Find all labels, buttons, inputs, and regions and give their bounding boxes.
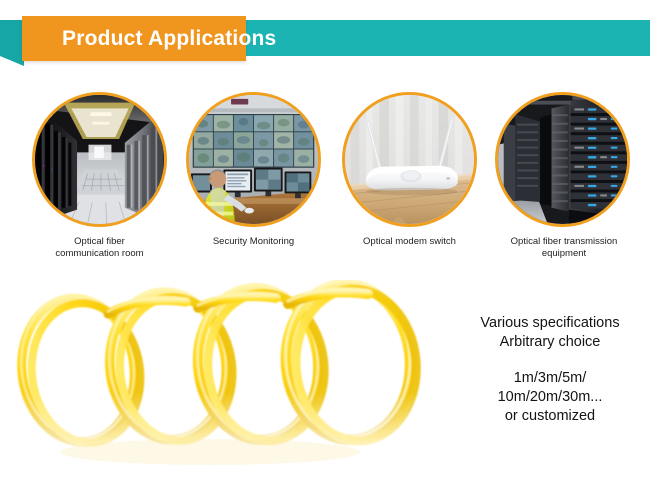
yellow-fiber-optic-cable-coil [0, 280, 440, 470]
optical-fiber-communication-room-photo [35, 95, 164, 224]
security-monitoring-photo [189, 95, 318, 224]
application-caption-1: Optical fiber communication room [22, 236, 177, 260]
caption-line-1: Optical modem switch [332, 236, 487, 248]
application-caption-2: Security Monitoring [176, 236, 331, 248]
page-title: Product Applications [62, 16, 268, 61]
application-caption-3: Optical modem switch [332, 236, 487, 248]
product-image-cable-coil [0, 280, 440, 470]
header-banner: Product Applications [0, 16, 650, 62]
spec-spacer [452, 352, 648, 369]
optical-modem-switch-photo [345, 95, 474, 224]
application-circle-optical-modem-switch [342, 92, 477, 227]
spec-lengths-3: or customized [452, 407, 648, 426]
spec-headline-2: Arbitrary choice [452, 333, 648, 352]
banner-orange-plate: Product Applications [22, 16, 246, 61]
caption-line-1: Optical fiber [22, 236, 177, 248]
spec-lengths-2: 10m/20m/30m... [452, 388, 648, 407]
application-circle-optical-fiber-transmission-equipment [495, 92, 630, 227]
optical-fiber-transmission-equipment-photo [498, 95, 627, 224]
caption-line-1: Security Monitoring [176, 236, 331, 248]
application-caption-4: Optical fiber transmission equipment [485, 236, 643, 260]
spec-lengths-1: 1m/3m/5m/ [452, 369, 648, 388]
product-applications-page: Product Applications [0, 0, 650, 486]
application-circle-security-monitoring [186, 92, 321, 227]
caption-line-1: Optical fiber transmission [485, 236, 643, 248]
spec-headline-1: Various specifications [452, 314, 648, 333]
application-circle-optical-fiber-communication-room [32, 92, 167, 227]
caption-line-2: equipment [485, 248, 643, 260]
caption-line-2: communication room [22, 248, 177, 260]
specifications-text-block: Various specifications Arbitrary choice … [452, 314, 648, 426]
